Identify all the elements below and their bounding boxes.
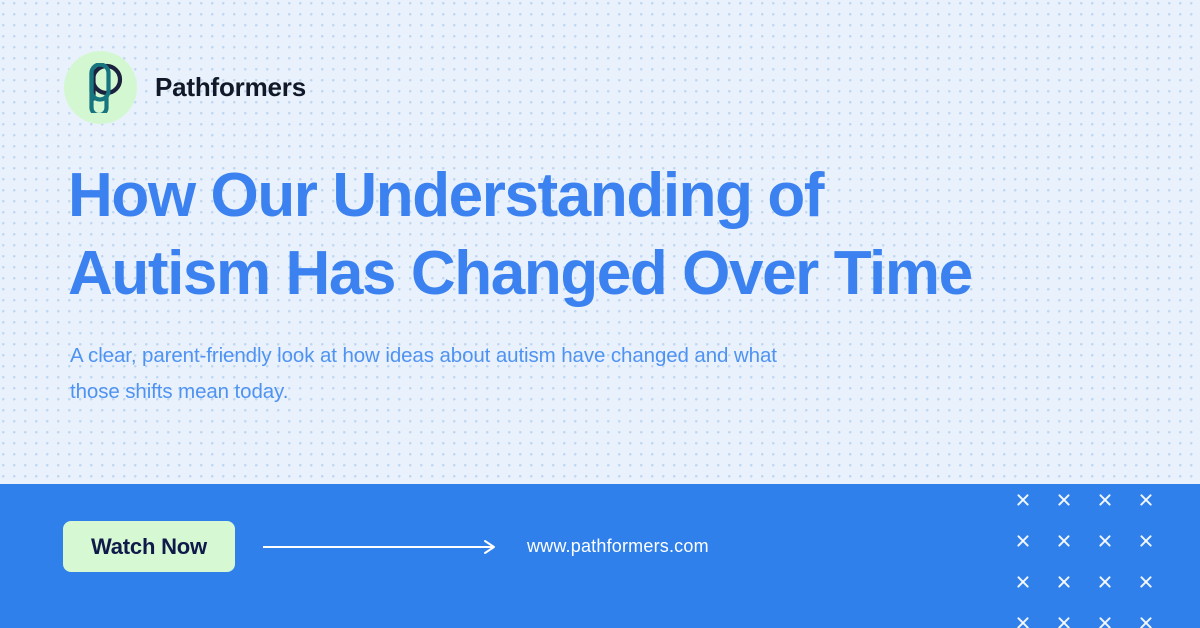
website-url[interactable]: www.pathformers.com <box>527 536 709 557</box>
x-pattern-decoration <box>1009 484 1160 628</box>
footer-bar: Watch Now www.pathformers.com <box>0 484 1200 628</box>
page-title: How Our Understanding of Autism Has Chan… <box>68 157 1118 313</box>
x-mark-icon <box>1009 486 1037 514</box>
pathformers-p-monogram-icon <box>64 51 137 124</box>
x-mark-icon <box>1091 609 1119 628</box>
x-mark-icon <box>1050 486 1078 514</box>
x-mark-icon <box>1132 486 1160 514</box>
page-subtitle: A clear, parent-friendly look at how ide… <box>70 338 950 410</box>
x-mark-icon <box>1091 527 1119 555</box>
brand-lockup[interactable]: Pathformers <box>64 51 306 124</box>
x-mark-icon <box>1132 527 1160 555</box>
x-mark-icon <box>1009 527 1037 555</box>
social-card-canvas: Pathformers How Our Understanding of Aut… <box>0 0 1200 628</box>
headline-line-2: Autism Has Changed Over Time <box>68 235 1118 313</box>
x-mark-icon <box>1050 609 1078 628</box>
x-mark-icon <box>1009 609 1037 628</box>
x-mark-icon <box>1132 609 1160 628</box>
x-mark-icon <box>1091 486 1119 514</box>
headline-line-1: How Our Understanding of <box>68 157 1118 235</box>
watch-now-button[interactable]: Watch Now <box>63 521 235 572</box>
x-mark-icon <box>1132 568 1160 596</box>
x-mark-icon <box>1009 568 1037 596</box>
x-mark-icon <box>1050 568 1078 596</box>
x-mark-icon <box>1050 527 1078 555</box>
brand-name: Pathformers <box>155 72 306 103</box>
arrow-right-icon <box>263 539 501 555</box>
subtitle-line-2: those shifts mean today. <box>70 374 950 410</box>
subtitle-line-1: A clear, parent-friendly look at how ide… <box>70 338 950 374</box>
footer-cta-row: Watch Now www.pathformers.com <box>63 521 709 572</box>
x-mark-icon <box>1091 568 1119 596</box>
